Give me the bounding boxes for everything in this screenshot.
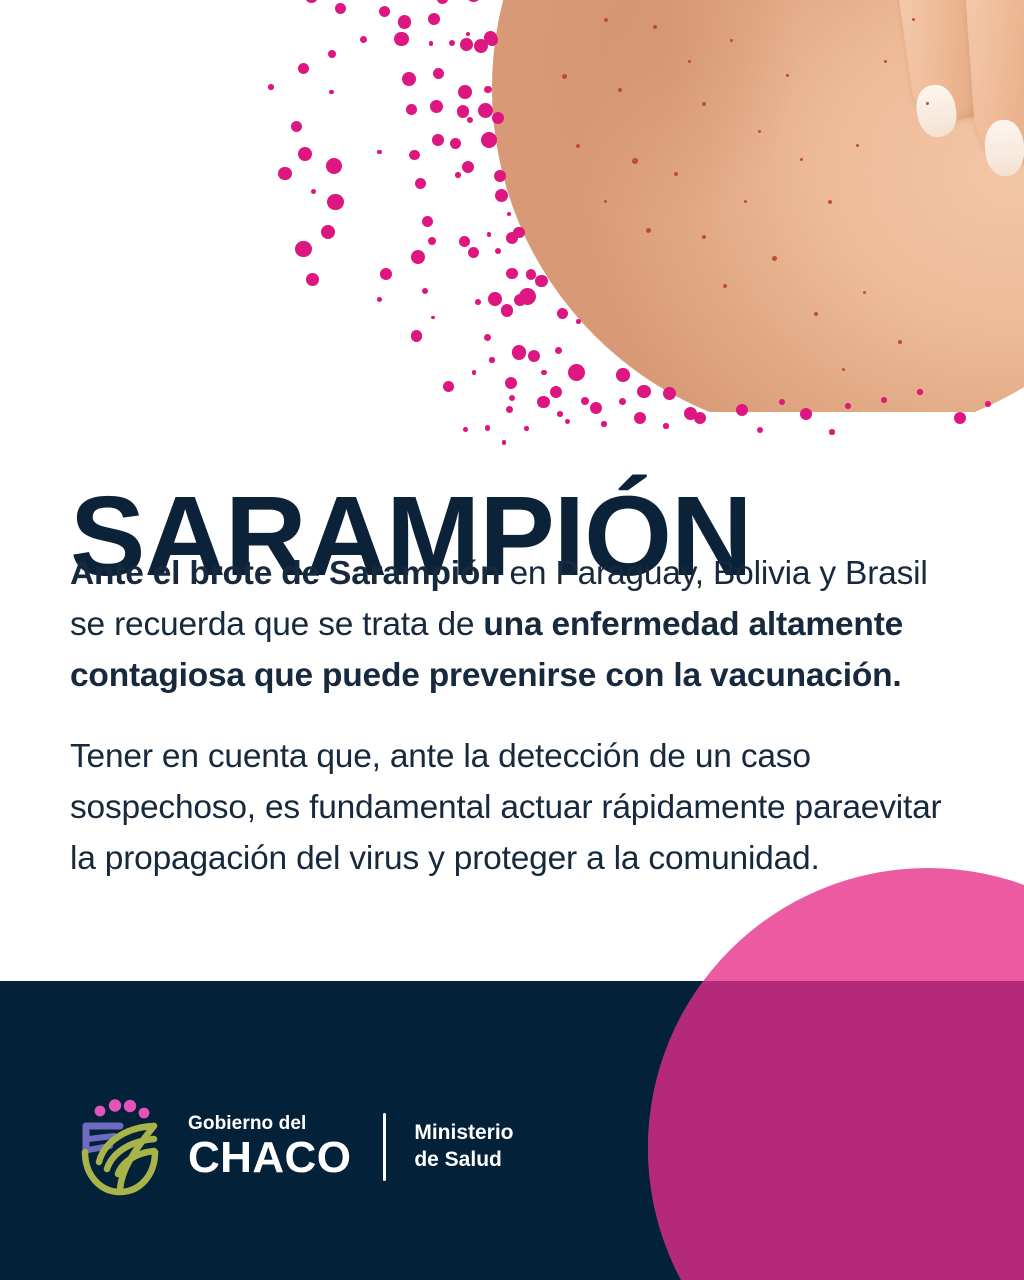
halftone-dot [565, 419, 570, 424]
halftone-dot [557, 411, 563, 417]
rash-spot [828, 200, 832, 204]
halftone-dot [954, 412, 966, 424]
rash-spot [730, 39, 733, 42]
halftone-dot [601, 421, 606, 426]
emblem-dot [95, 1106, 106, 1117]
rash-spot [814, 312, 818, 316]
halftone-dot [524, 426, 528, 430]
rash-spot [772, 256, 777, 261]
halftone-dot [829, 429, 834, 434]
rash-spot [632, 158, 638, 164]
rash-spot [744, 200, 747, 203]
paragraph-action: Tener en cuenta que, ante la detección d… [70, 731, 970, 884]
halftone-dot [663, 423, 668, 428]
poster-canvas: SARAMPIÓN Ante el brote de Sarampión en … [0, 0, 1024, 1280]
rash-spot [646, 228, 651, 233]
ministerio-line-2: de Salud [414, 1147, 513, 1174]
halftone-dot [634, 412, 646, 424]
logo-chaco-label: CHACO [188, 1136, 351, 1181]
rash-spot [758, 130, 761, 133]
rash-spot [842, 368, 845, 371]
rash-spot [604, 18, 608, 22]
measles-rash-photo [492, 0, 1024, 412]
rash-spot [786, 74, 789, 77]
rash-spot [562, 74, 567, 79]
fingernail [983, 118, 1024, 177]
photo-inner [492, 0, 1024, 412]
emphasis-text: Ante el brote de Sarampión [70, 555, 510, 592]
halftone-dot [485, 425, 491, 431]
logo-divider [383, 1113, 386, 1181]
logo-gobierno-label: Gobierno del [188, 1114, 351, 1134]
paragraph-outbreak: Ante el brote de Sarampión en Paraguay, … [70, 548, 970, 701]
rash-spot [884, 60, 887, 63]
rash-spot [576, 144, 580, 148]
rash-spot [898, 340, 902, 344]
logo-lockup: Gobierno del CHACO Ministerio de Salud [74, 1096, 514, 1198]
rash-spot [800, 158, 803, 161]
plain-text: Tener en cuenta que, ante la detección d… [70, 738, 942, 877]
photo-area [0, 0, 1024, 412]
body-copy: Ante el brote de Sarampión en Paraguay, … [70, 548, 970, 884]
rash-spot [723, 284, 727, 288]
ministerio-de-salud-label: Ministerio de Salud [414, 1120, 513, 1174]
rash-spot [863, 291, 866, 294]
emblem-dot [124, 1100, 136, 1112]
rash-spot [856, 144, 859, 147]
logo-text: Gobierno del CHACO [188, 1114, 351, 1181]
hand [898, 0, 1024, 354]
emblem-dot [139, 1108, 150, 1119]
rash-spot [702, 102, 706, 106]
decorative-pink-circle-dark [648, 981, 1024, 1280]
rash-spot [618, 88, 622, 92]
rash-spot [912, 18, 915, 21]
halftone-dot [757, 427, 763, 433]
halftone-dot [694, 412, 706, 424]
rash-spot [702, 235, 706, 239]
rash-spot [688, 60, 691, 63]
rash-spot [926, 102, 929, 105]
rash-spot [604, 200, 607, 203]
halftone-dot [502, 440, 506, 444]
ministerio-line-1: Ministerio [414, 1120, 513, 1147]
emblem-dot [109, 1099, 121, 1111]
halftone-dot [463, 427, 468, 432]
rash-spot [674, 172, 678, 176]
chaco-leaf-emblem [74, 1096, 166, 1198]
rash-spot [653, 25, 657, 29]
